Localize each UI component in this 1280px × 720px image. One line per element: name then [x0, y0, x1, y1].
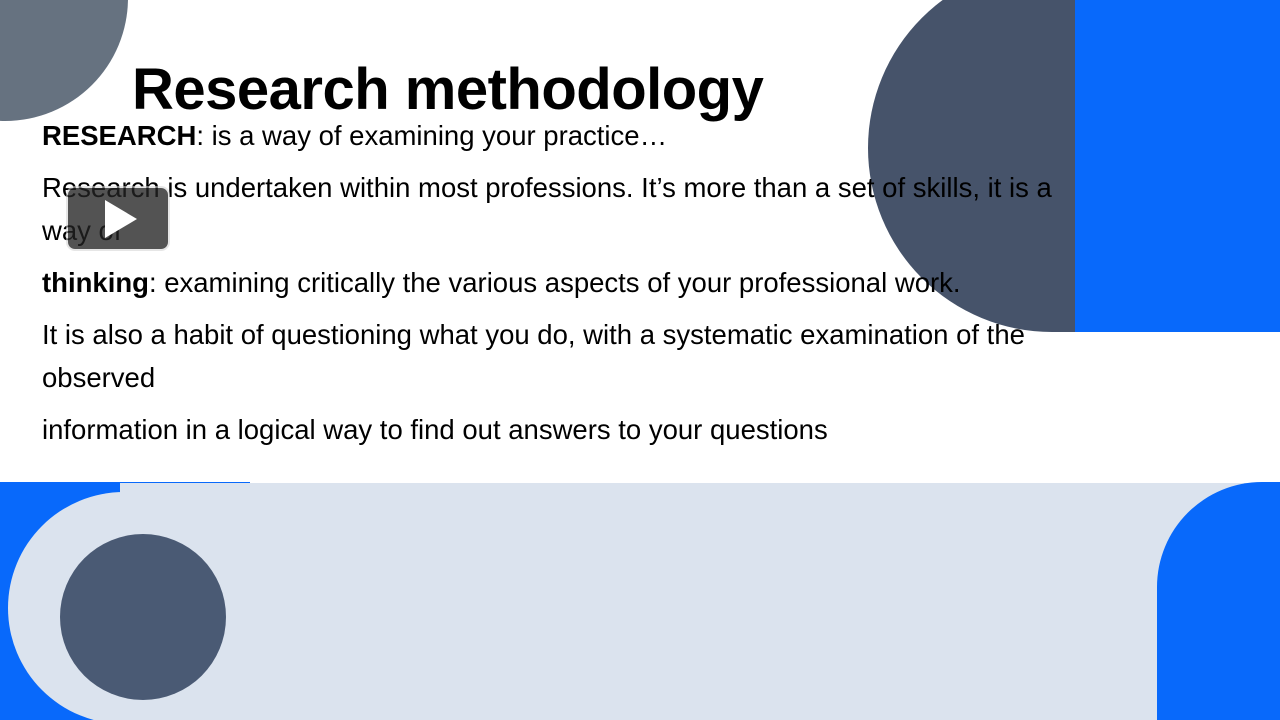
- paragraph-1: RESEARCH: is a way of examining your pra…: [42, 115, 1097, 157]
- video-play-button[interactable]: [68, 188, 168, 249]
- paragraph-2: Research is undertaken within most profe…: [42, 167, 1097, 252]
- paragraph-3-lead: thinking: [42, 267, 149, 298]
- slide-content: Research methodology RESEARCH: is a way …: [0, 0, 1280, 720]
- paragraph-5-text: information in a logical way to find out…: [42, 414, 828, 445]
- paragraph-1-lead: RESEARCH: [42, 120, 196, 151]
- page-title: Research methodology: [132, 55, 763, 125]
- paragraph-1-text: : is a way of examining your practice…: [196, 120, 667, 151]
- body-copy: RESEARCH: is a way of examining your pra…: [42, 115, 1097, 451]
- paragraph-2-text: Research is undertaken within most profe…: [42, 172, 1052, 245]
- slide-canvas: Research methodology RESEARCH: is a way …: [0, 0, 1280, 720]
- paragraph-5: information in a logical way to find out…: [42, 409, 1097, 451]
- paragraph-3: thinking: examining critically the vario…: [42, 262, 1097, 304]
- paragraph-3-text: : examining critically the various aspec…: [149, 267, 961, 298]
- paragraph-4-text: It is also a habit of questioning what y…: [42, 319, 1025, 392]
- play-triangle-icon: [105, 200, 137, 238]
- paragraph-4: It is also a habit of questioning what y…: [42, 314, 1097, 399]
